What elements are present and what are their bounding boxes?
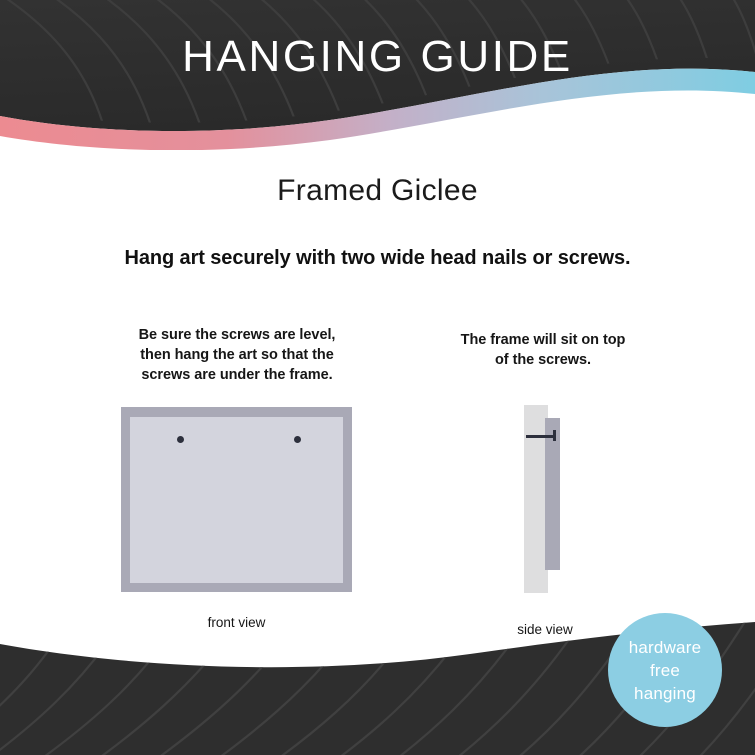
side-view-column: The frame will sit on top of the screws.	[408, 330, 678, 370]
side-view-caption: The frame will sit on top of the screws.	[408, 330, 678, 370]
hanging-guide-page: HANGING GUIDE Framed Giclee Hang art sec…	[0, 0, 755, 755]
front-view-diagram	[121, 407, 352, 592]
side-screw-shaft-icon	[526, 435, 555, 438]
side-view-caption-line-1: The frame will sit on top	[408, 330, 678, 350]
badge-line-3: hanging	[634, 682, 696, 705]
front-view-mat	[130, 417, 343, 583]
screw-dot-right-icon	[294, 436, 301, 443]
page-title: HANGING GUIDE	[0, 29, 755, 85]
side-screw-head-icon	[553, 430, 556, 441]
front-view-caption: Be sure the screws are level, then hang …	[92, 325, 382, 385]
front-view-caption-line-3: screws are under the frame.	[92, 365, 382, 385]
screw-dot-left-icon	[177, 436, 184, 443]
product-title: Framed Giclee	[0, 174, 755, 208]
side-view-caption-line-2: of the screws.	[408, 350, 678, 370]
side-view-diagram	[500, 400, 610, 600]
front-view-caption-line-2: then hang the art so that the	[92, 345, 382, 365]
lead-instruction-text: Hang art securely with two wide head nai…	[0, 247, 755, 270]
hardware-free-badge: hardware free hanging	[608, 613, 722, 727]
front-view-column: Be sure the screws are level, then hang …	[92, 325, 382, 385]
header-banner: HANGING GUIDE	[0, 0, 755, 150]
front-view-caption-line-1: Be sure the screws are level,	[92, 325, 382, 345]
badge-line-1: hardware	[629, 636, 701, 659]
badge-line-2: free	[650, 659, 680, 682]
